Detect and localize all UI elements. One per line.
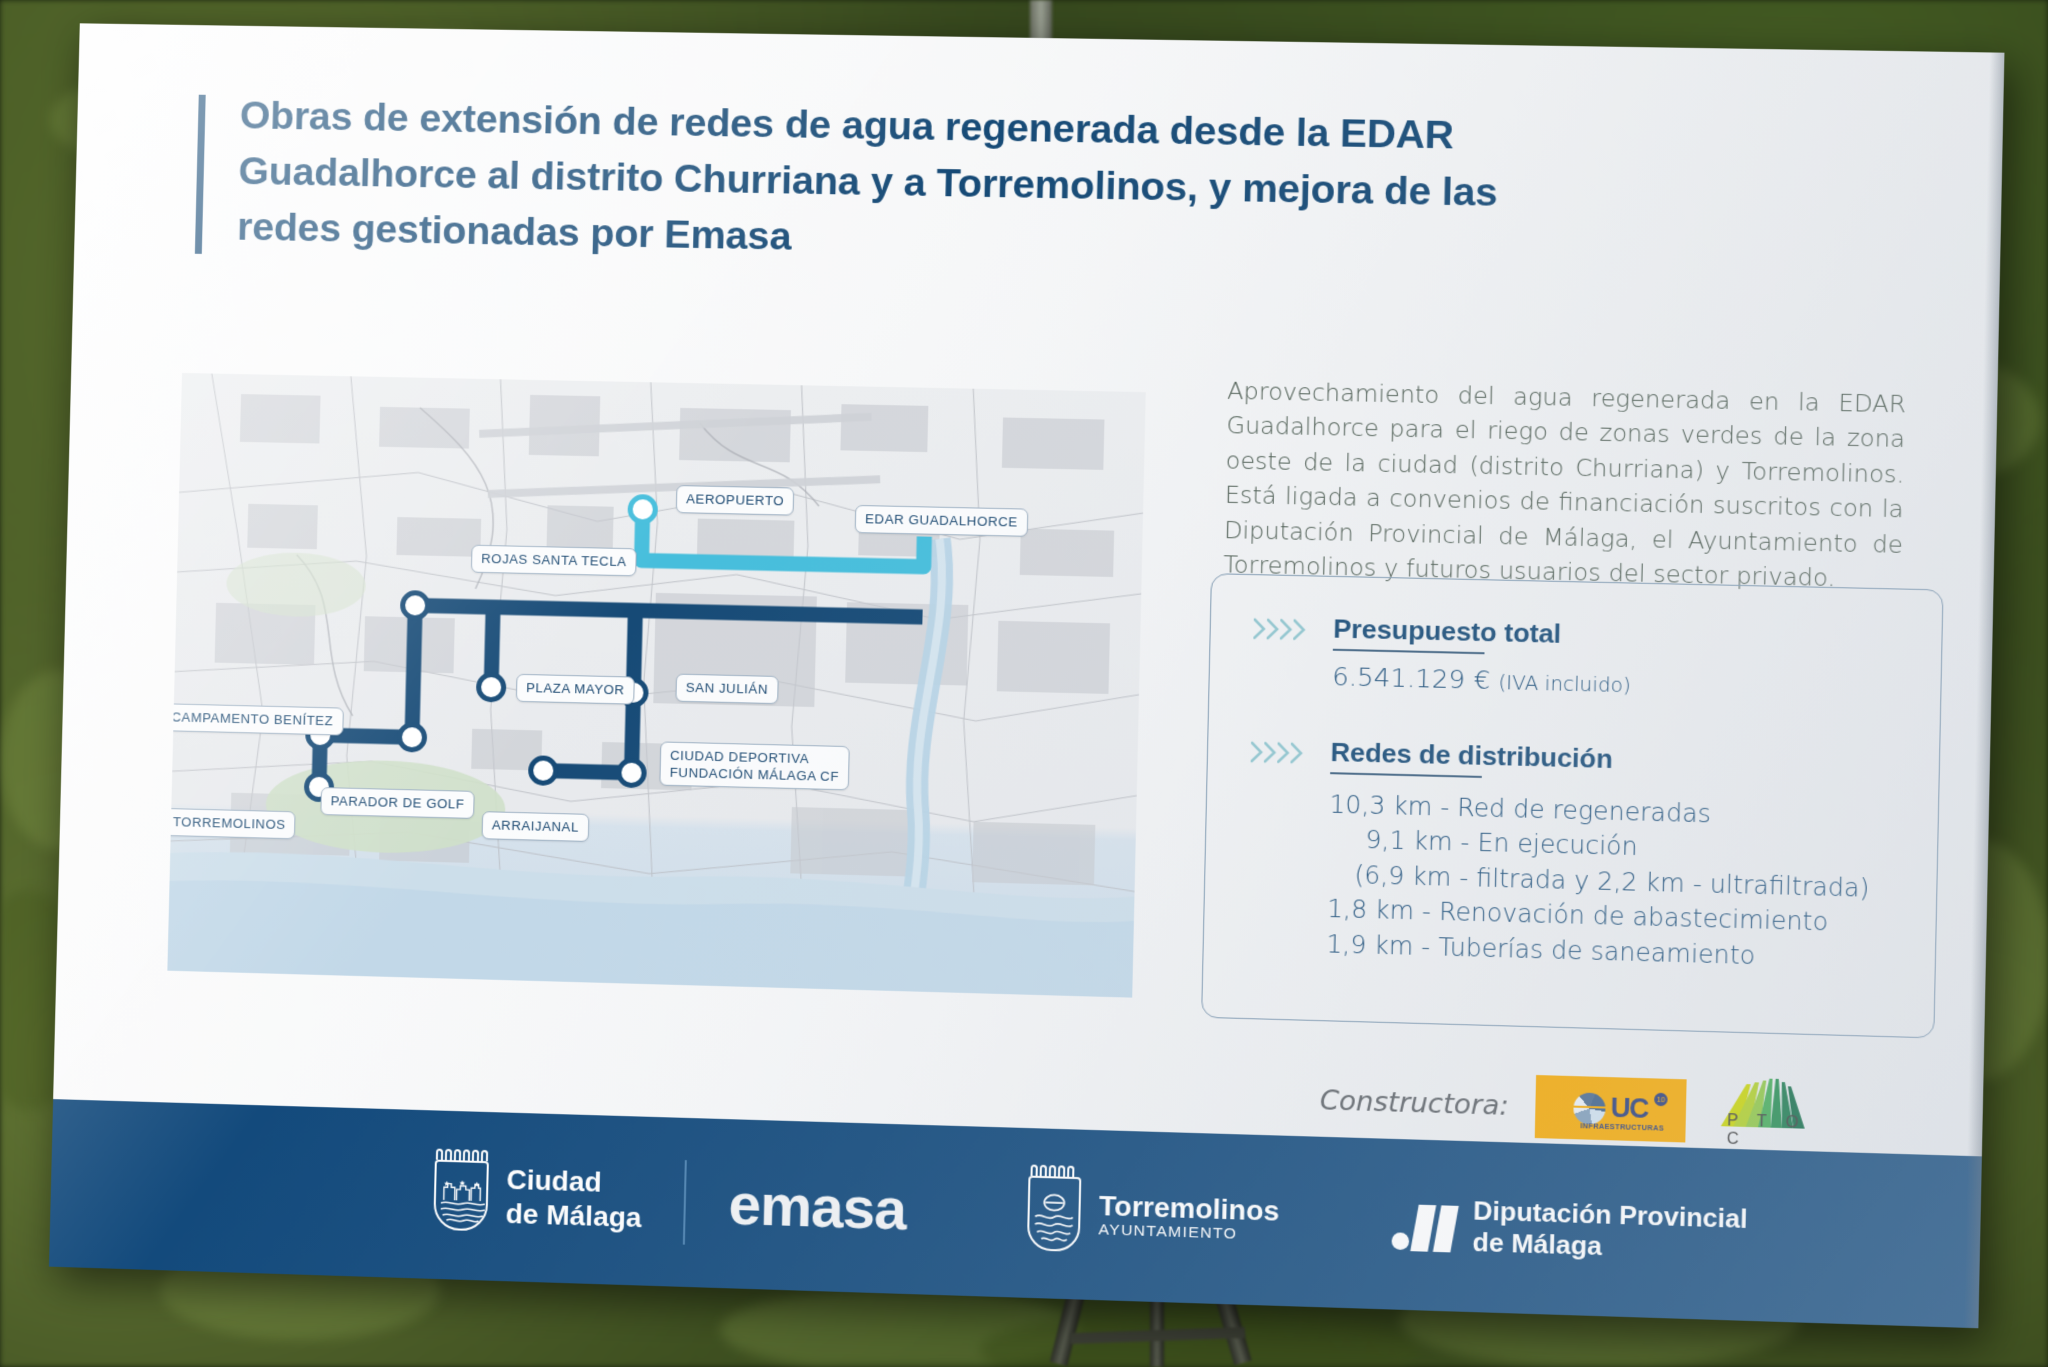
map-label-ciudad-deportiva-line1: CIUDAD DEPORTIVA [670,748,809,767]
easel-top-post [1030,0,1052,40]
malaga-line2: de Málaga [505,1197,642,1236]
chevron-right-icon [1293,618,1307,641]
map-label-aeropuerto: AEROPUERTO [676,485,795,515]
malaga-crown-icon [436,1149,488,1162]
footer-logo-emasa: emasa [728,1170,907,1243]
chevron-right-icon [1290,742,1304,765]
map-label-edar-guadalhorce: EDAR GUADALHORCE [855,505,1029,536]
pipe-network [167,373,1145,998]
budget-underline [1333,649,1485,654]
networks-section: Redes de distribución 10,3 km - Red de r… [1246,735,1872,977]
budget-heading: Presupuesto total [1333,613,1632,651]
networks-underline [1330,772,1482,777]
footer-logo-torremolinos: Torremolinos AYUNTAMIENTO [1027,1176,1280,1259]
torremolinos-crown-icon [1031,1165,1075,1177]
diputacion-mark-icon [1391,1198,1455,1253]
map-label-campamento-benitez: CAMPAMENTO BENÍTEZ [167,703,343,735]
ptoc-wordmark: P T O C [1727,1112,1829,1152]
budget-amount: 6.541.129 € [1332,661,1491,695]
diputacion-dot-icon [1391,1232,1409,1250]
torremolinos-wordmark: Torremolinos AYUNTAMIENTO [1098,1190,1280,1245]
budget-note: (IVA incluido) [1498,670,1631,696]
footer-logo-ciudad-de-malaga: Ciudad de Málaga [433,1160,643,1237]
malaga-waves-icon [440,1200,485,1223]
uc-sphere-icon [1573,1092,1606,1124]
diputacion-wordmark: Diputación Provincial de Málaga [1472,1195,1748,1267]
footer-divider [683,1160,687,1245]
map-label-parador-de-golf: PARADOR DE GOLF [320,787,474,818]
malaga-castle-icon [442,1180,483,1201]
budget-section: Presupuesto total 6.541.129 € (IVA inclu… [1252,611,1632,698]
networks-list: 10,3 km - Red de regeneradas 9,1 km - En… [1326,787,1871,977]
map-label-ciudad-deportiva-line2: FUNDACIÓN MÁLAGA CF [670,764,840,783]
ptoc-logo: P T O C [1712,1075,1830,1152]
chevron-group-budget [1253,618,1307,641]
malaga-shield-icon [433,1160,489,1232]
chevron-right-icon [1267,618,1281,641]
map-label-arraijanal: ARRAIJANAL [482,811,590,841]
footer-logo-diputacion: Diputación Provincial de Málaga [1391,1193,1748,1267]
map-label-ciudad-deportiva: CIUDAD DEPORTIVA FUNDACIÓN MÁLAGA CF [659,741,849,790]
diputacion-bar-icon [1433,1205,1459,1252]
diputacion-bar-icon [1410,1205,1436,1252]
page-title: Obras de extensión de redes de agua rege… [237,87,1541,278]
intro-paragraph: Aprovechamiento del agua regenerada en l… [1223,374,1906,598]
chevron-right-icon [1277,742,1291,765]
map-label-san-julian: SAN JULIÁN [675,674,778,704]
map-label-rojas-santa-tecla: ROJAS SANTA TECLA [471,545,637,576]
uc-infraestructuras-logo: UC 10 INFRAESTRUCTURAS [1535,1075,1687,1142]
malaga-line1: Ciudad [506,1163,643,1201]
torremolinos-shield-icon [1027,1176,1082,1252]
map-label-torremolinos: TORREMOLINOS [167,808,296,839]
title-block: Obras de extensión de redes de agua rege… [195,87,1541,279]
map-label-plaza-mayor: PLAZA MAYOR [516,674,635,704]
uc-logo-badge: 10 [1654,1093,1668,1107]
chevron-right-icon [1251,741,1265,764]
title-accent-bar [195,95,206,254]
chevron-right-icon [1264,741,1278,764]
network-map: AEROPUERTO EDAR GUADALHORCE ROJAS SANTA … [167,373,1145,998]
presentation-board: Obras de extensión de redes de agua rege… [49,23,2004,1328]
budget-value-row: 6.541.129 € (IVA incluido) [1332,661,1631,698]
chevron-group-networks [1251,741,1305,765]
info-box: Presupuesto total 6.541.129 € (IVA inclu… [1201,573,1943,1038]
chevron-right-icon [1280,618,1294,641]
torremolinos-emblem-icon [1029,1178,1079,1250]
uc-logo-subtitle: INFRAESTRUCTURAS [1580,1121,1664,1133]
uc-logo-wordmark: UC [1610,1096,1648,1123]
malaga-wordmark: Ciudad de Málaga [505,1163,642,1236]
constructora-label: Constructora: [1320,1085,1509,1122]
chevron-right-icon [1253,618,1267,641]
